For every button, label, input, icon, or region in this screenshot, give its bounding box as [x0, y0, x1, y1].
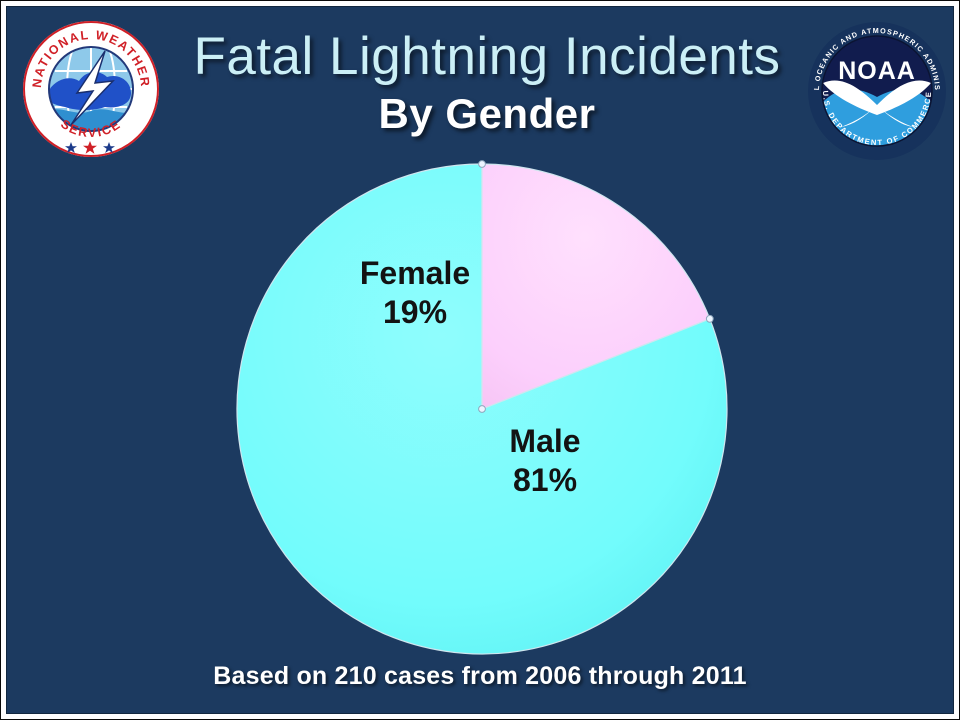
nws-logo: NATIONAL WEATHER SERVICE: [21, 19, 161, 159]
footer-note: Based on 210 cases from 2006 through 201…: [7, 662, 953, 691]
pie-chart-graphic: [232, 159, 732, 659]
page-title: Fatal Lightning Incidents: [167, 27, 807, 87]
page-subtitle: By Gender: [167, 89, 807, 139]
noaa-logo-graphic: NOAA NATIONAL OCEANIC AND ATMOSPHERIC AD…: [807, 21, 947, 161]
nws-logo-graphic: NATIONAL WEATHER SERVICE: [21, 19, 161, 159]
pie-chart: [232, 159, 732, 659]
slide-frame: NATIONAL WEATHER SERVICE: [0, 0, 960, 720]
noaa-wordmark: NOAA: [838, 57, 916, 85]
slide-canvas: NATIONAL WEATHER SERVICE: [6, 6, 954, 714]
noaa-logo: NOAA NATIONAL OCEANIC AND ATMOSPHERIC AD…: [807, 21, 947, 161]
title-block: Fatal Lightning Incidents By Gender: [167, 27, 807, 139]
